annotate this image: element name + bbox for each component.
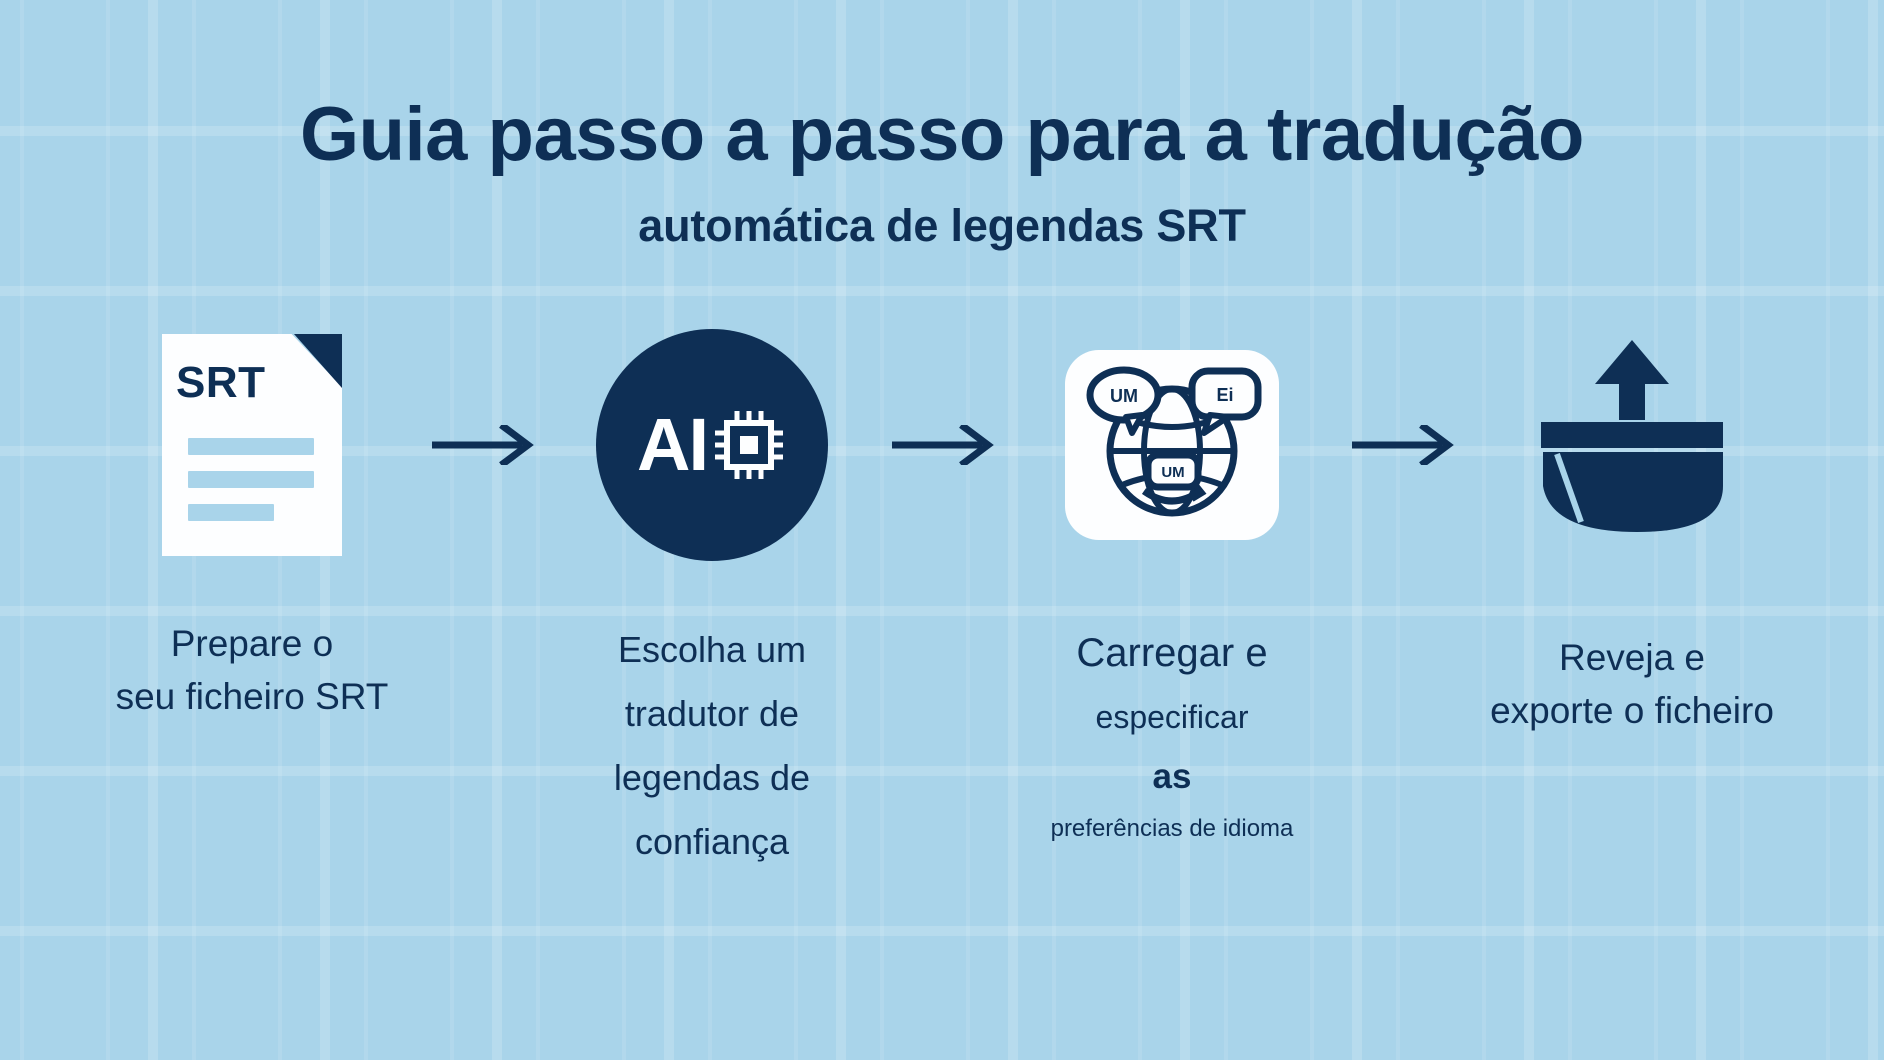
header: Guia passo a passo para a tradução autom… xyxy=(0,96,1884,252)
arrow-right-icon xyxy=(430,425,534,465)
export-ship-upload-icon xyxy=(1519,336,1745,554)
ai-label: AI xyxy=(637,408,707,482)
document-line xyxy=(188,438,314,455)
connector-3 xyxy=(1348,330,1456,560)
arrow-right-icon xyxy=(890,425,994,465)
step-4: Reveja e exporte o ficheiro xyxy=(1456,330,1808,737)
connector-2 xyxy=(888,330,996,560)
caption-line: seu ficheiro SRT xyxy=(116,671,389,724)
page-title: Guia passo a passo para a tradução xyxy=(0,96,1884,174)
bubble-label-left: UM xyxy=(1110,386,1138,406)
caption-line: Carregar e xyxy=(1051,618,1294,689)
step-4-caption: Reveja e exporte o ficheiro xyxy=(1482,632,1782,737)
step-1: SRT Prepare o seu ficheiro SRT xyxy=(76,330,428,723)
ship-deck-highlight xyxy=(1563,460,1705,520)
step-1-caption: Prepare o seu ficheiro SRT xyxy=(108,618,397,723)
upload-arrow-icon xyxy=(1595,340,1669,420)
document-line xyxy=(188,471,314,488)
caption-line: confiança xyxy=(614,810,810,874)
connector-1 xyxy=(428,330,536,560)
chip-icon xyxy=(711,407,787,483)
infographic-canvas: Guia passo a passo para a tradução autom… xyxy=(0,0,1884,1060)
srt-label: SRT xyxy=(176,358,266,408)
step-1-icon-box: SRT xyxy=(76,330,428,560)
srt-document-icon: SRT xyxy=(162,334,342,556)
page-subtitle: automática de legendas SRT xyxy=(0,200,1884,252)
step-3-icon-box: UM Ei UM xyxy=(996,330,1348,560)
caption-line: as xyxy=(1051,746,1294,808)
step-2: AI xyxy=(536,330,888,874)
caption-line: preferências de idioma xyxy=(1051,808,1294,851)
speech-bubble-center: UM xyxy=(1148,455,1198,487)
step-4-icon-box xyxy=(1456,330,1808,560)
caption-line: Escolha um xyxy=(614,618,810,682)
step-3-caption: Carregar e especificar as preferências d… xyxy=(1043,618,1302,851)
globe-translate-card-icon: UM Ei UM xyxy=(1065,350,1279,540)
caption-line: Prepare o xyxy=(116,618,389,671)
bubble-label-center: UM xyxy=(1161,464,1184,481)
step-2-caption: Escolha um tradutor de legendas de confi… xyxy=(606,618,818,874)
caption-line: tradutor de xyxy=(614,682,810,746)
ai-chip-circle-icon: AI xyxy=(596,329,828,561)
caption-line: legendas de xyxy=(614,746,810,810)
steps-row: SRT Prepare o seu ficheiro SRT xyxy=(0,330,1884,874)
step-2-icon-box: AI xyxy=(536,330,888,560)
bubble-label-right: Ei xyxy=(1216,385,1233,405)
document-line xyxy=(188,504,274,521)
caption-line: especificar xyxy=(1051,689,1294,746)
arrow-right-icon xyxy=(1350,425,1454,465)
globe-with-speech-bubbles: UM Ei UM xyxy=(1074,359,1270,531)
step-3: UM Ei UM xyxy=(996,330,1348,851)
document-text-lines xyxy=(188,438,314,521)
caption-line: Reveja e xyxy=(1490,632,1774,685)
caption-line: exporte o ficheiro xyxy=(1490,685,1774,738)
